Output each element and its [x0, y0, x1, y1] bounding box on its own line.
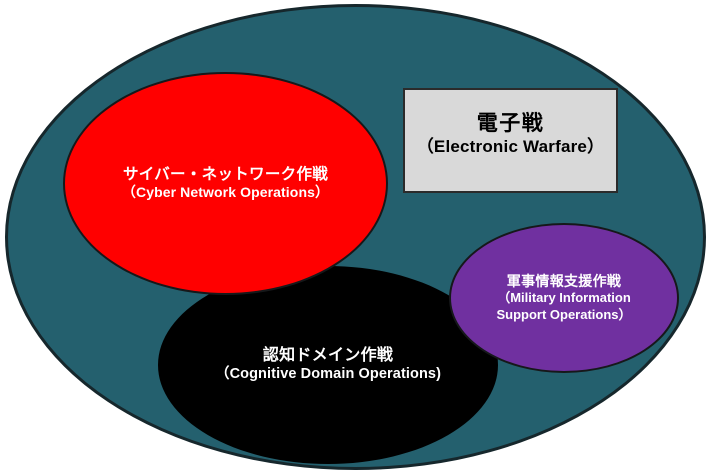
military-info-support-label-en-line1: （Military Information	[497, 290, 631, 306]
military-information-support-operations-ellipse[interactable]: 軍事情報支援作戦 （Military Information Support O…	[449, 223, 679, 373]
cyber-network-operations-ellipse[interactable]: サイバー・ネットワーク作戦 （Cyber Network Operations）	[63, 72, 388, 295]
military-info-support-label-en-line2: Support Operations）	[496, 307, 631, 323]
electronic-warfare-box[interactable]: 電子戦 （Electronic Warfare）	[403, 88, 618, 193]
cyber-network-label-en: （Cyber Network Operations）	[122, 184, 329, 201]
electronic-warfare-label-en: （Electronic Warfare）	[417, 137, 605, 158]
cognitive-domain-operations-ellipse[interactable]: 認知ドメイン作戦 （Cognitive Domain Operations)	[158, 266, 498, 464]
cognitive-domain-label-en: （Cognitive Domain Operations)	[215, 366, 441, 384]
diagram-canvas: 認知ドメイン作戦 （Cognitive Domain Operations) サ…	[0, 0, 714, 476]
cognitive-domain-label-jp: 認知ドメイン作戦	[263, 346, 393, 366]
electronic-warfare-label-jp: 電子戦	[417, 111, 605, 137]
electronic-warfare-text-block: 電子戦 （Electronic Warfare）	[417, 111, 605, 157]
cyber-network-label-jp: サイバー・ネットワーク作戦	[123, 166, 328, 185]
military-info-support-label-jp: 軍事情報支援作戦	[507, 273, 621, 290]
